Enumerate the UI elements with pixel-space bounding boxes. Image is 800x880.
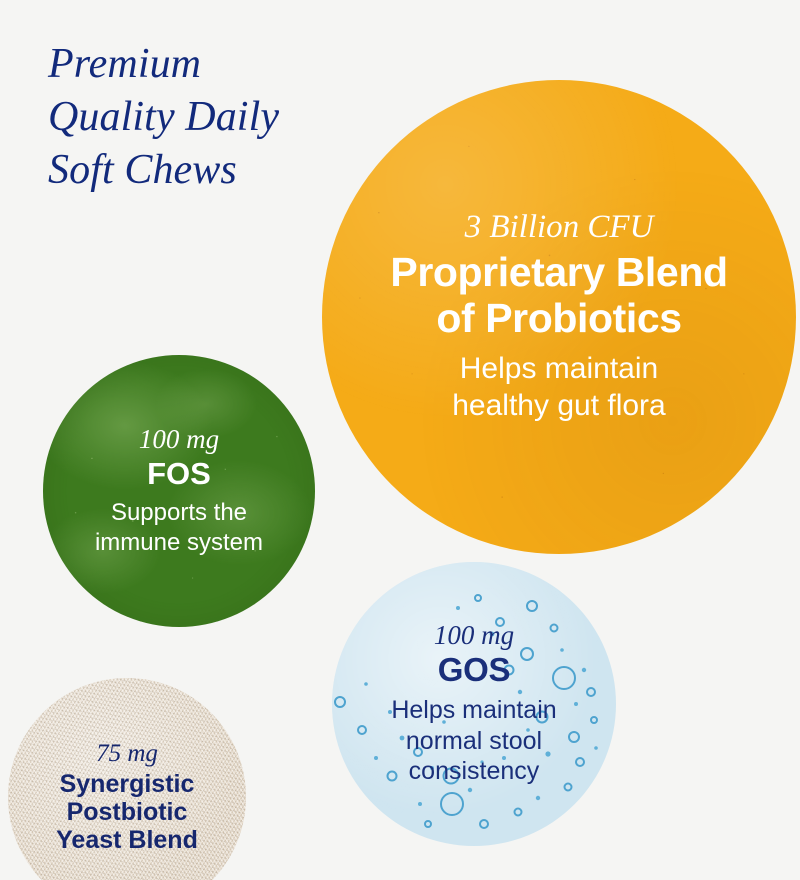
infographic-canvas: Premium Quality Daily Soft Chews 3 Billi…: [0, 0, 800, 880]
fos-desc-line-2: immune system: [95, 528, 263, 557]
yeast-name-line-3: Yeast Blend: [56, 826, 198, 854]
probiotic-name-line-2: of Probiotics: [390, 296, 727, 342]
page-title-line-2: Quality Daily: [48, 91, 368, 144]
yeast-blend-circle: 75 mg Synergistic Postbiotic Yeast Blend: [8, 678, 246, 880]
fos-copy: 100 mg FOS Supports the immune system: [43, 355, 315, 627]
probiotic-desc-line-1: Helps maintain: [452, 351, 665, 388]
yeast-copy: 75 mg Synergistic Postbiotic Yeast Blend: [8, 678, 246, 880]
gos-name: GOS: [438, 652, 510, 689]
yeast-name-line-1: Synergistic: [56, 770, 198, 798]
gos-desc-line-3: consistency: [391, 756, 556, 787]
page-title-line-3: Soft Chews: [48, 144, 368, 197]
fos-name: FOS: [147, 457, 211, 492]
fos-circle: 100 mg FOS Supports the immune system: [43, 355, 315, 627]
probiotic-blend-circle: 3 Billion CFU Proprietary Blend of Probi…: [322, 80, 796, 554]
gos-desc-line-1: Helps maintain: [391, 695, 556, 726]
page-title-line-1: Premium: [48, 38, 368, 91]
fos-dose: 100 mg: [139, 425, 219, 455]
probiotic-description: Helps maintain healthy gut flora: [452, 351, 665, 424]
gos-copy: 100 mg GOS Helps maintain normal stool c…: [332, 562, 616, 846]
gos-desc-line-2: normal stool: [391, 726, 556, 757]
page-title: Premium Quality Daily Soft Chews: [48, 38, 368, 197]
yeast-name: Synergistic Postbiotic Yeast Blend: [56, 770, 198, 854]
gos-description: Helps maintain normal stool consistency: [391, 695, 556, 787]
probiotic-name-line-1: Proprietary Blend: [390, 250, 727, 296]
yeast-dose: 75 mg: [96, 740, 158, 768]
probiotic-name: Proprietary Blend of Probiotics: [390, 250, 727, 342]
fos-description: Supports the immune system: [95, 498, 263, 557]
gos-circle: 100 mg GOS Helps maintain normal stool c…: [332, 562, 616, 846]
yeast-name-line-2: Postbiotic: [56, 798, 198, 826]
probiotic-copy: 3 Billion CFU Proprietary Blend of Probi…: [322, 80, 796, 554]
gos-dose: 100 mg: [434, 621, 514, 651]
fos-desc-line-1: Supports the: [95, 498, 263, 527]
probiotic-desc-line-2: healthy gut flora: [452, 388, 665, 425]
probiotic-dose: 3 Billion CFU: [465, 209, 654, 245]
